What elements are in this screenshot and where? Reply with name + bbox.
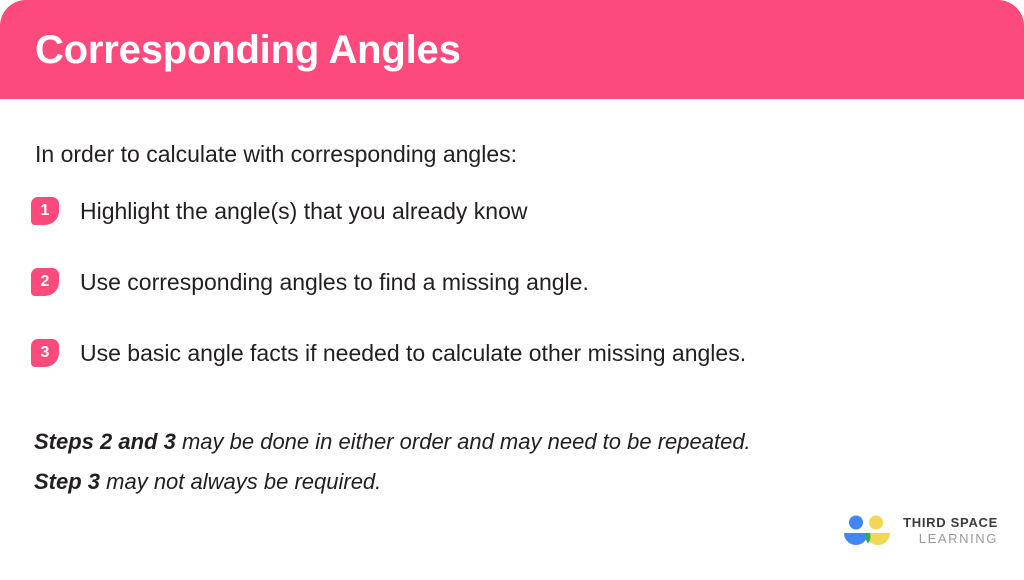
lesson-slide-card: Corresponding Angles In order to calcula…: [0, 0, 1024, 580]
list-item: 3 Use basic angle facts if needed to cal…: [31, 339, 971, 367]
steps-list: 1 Highlight the angle(s) that you alread…: [31, 197, 971, 410]
step-text: Highlight the angle(s) that you already …: [80, 197, 527, 225]
list-item: 1 Highlight the angle(s) that you alread…: [31, 197, 971, 225]
third-space-logo-icon: [842, 514, 892, 546]
slide-body: In order to calculate with corresponding…: [0, 99, 1024, 580]
logo-line-1: THIRD SPACE: [903, 516, 998, 529]
notes-block: Steps 2 and 3 may be done in either orde…: [34, 422, 751, 502]
note-line: Step 3 may not always be required.: [34, 462, 751, 502]
page-title: Corresponding Angles: [35, 30, 461, 70]
note-rest: may not always be required.: [100, 469, 381, 494]
intro-text: In order to calculate with corresponding…: [35, 141, 517, 169]
note-rest: may be done in either order and may need…: [176, 429, 751, 454]
logo-wordmark: THIRD SPACE LEARNING: [903, 516, 998, 545]
list-item: 2 Use corresponding angles to find a mis…: [31, 268, 971, 296]
step-text: Use basic angle facts if needed to calcu…: [80, 339, 746, 367]
note-line: Steps 2 and 3 may be done in either orde…: [34, 422, 751, 462]
note-lead: Step 3: [34, 469, 100, 494]
note-lead: Steps 2 and 3: [34, 429, 176, 454]
step-text: Use corresponding angles to find a missi…: [80, 268, 589, 296]
logo-line-2: LEARNING: [903, 532, 998, 545]
third-space-learning-logo: THIRD SPACE LEARNING: [842, 514, 998, 546]
slide-header: Corresponding Angles: [0, 0, 1024, 99]
step-number-badge: 3: [31, 339, 59, 367]
step-number-badge: 2: [31, 268, 59, 296]
step-number-badge: 1: [31, 197, 59, 225]
